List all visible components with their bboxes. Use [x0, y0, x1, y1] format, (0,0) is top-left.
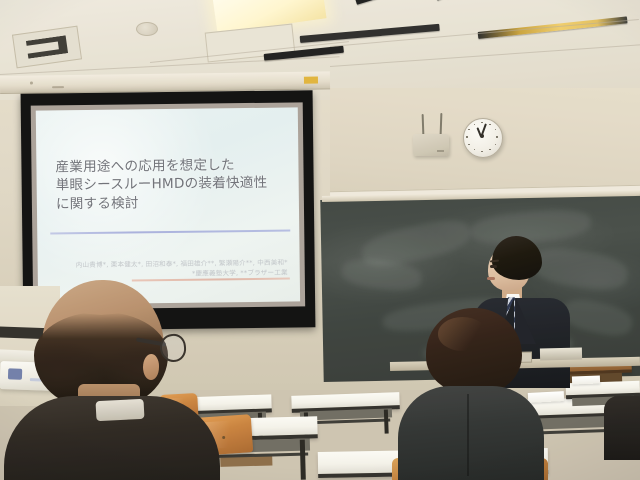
front-audience-shirt-collar	[96, 399, 145, 421]
ceiling-air-vent-left	[12, 26, 82, 69]
access-point-led	[437, 150, 444, 152]
lecture-room-photo: 産業用途への応用を想定した 単眼シースルーHMDの装着快適性 に関する検討 内山…	[0, 0, 640, 480]
book-on-tray[interactable]	[540, 348, 582, 361]
ceiling-slot-light-2	[355, 0, 393, 5]
housing-label-tag	[304, 77, 318, 84]
audience-member-front	[18, 278, 208, 480]
second-audience-hair	[426, 308, 522, 394]
presenter-mouth	[487, 277, 495, 280]
partial-figure-right-edge	[604, 396, 640, 460]
second-audience-jacket	[398, 386, 544, 480]
presentation-slide: 産業用途への応用を想定した 単眼シースルーHMDの装着快適性 に関する検討 内山…	[36, 107, 300, 304]
audience-member-second	[396, 308, 546, 480]
slide-divider-blue	[50, 230, 290, 235]
presenter-hair	[492, 236, 542, 280]
front-audience-ear	[143, 354, 159, 380]
wireless-access-point	[413, 134, 449, 156]
slide-title: 産業用途への応用を想定した 単眼シースルーHMDの装着快適性 に関する検討	[55, 156, 288, 214]
ceiling-round-diffuser	[136, 22, 158, 36]
ceiling-slot-light-lit	[478, 16, 628, 39]
ceiling-slot-light-5	[300, 24, 440, 43]
ceiling-slot-light-3	[435, 0, 469, 1]
handout-paper-far-right[interactable]	[572, 376, 600, 385]
wall-clock	[463, 118, 503, 158]
ceiling-tile-seam-4	[330, 44, 640, 67]
presenter-eye	[490, 265, 497, 268]
